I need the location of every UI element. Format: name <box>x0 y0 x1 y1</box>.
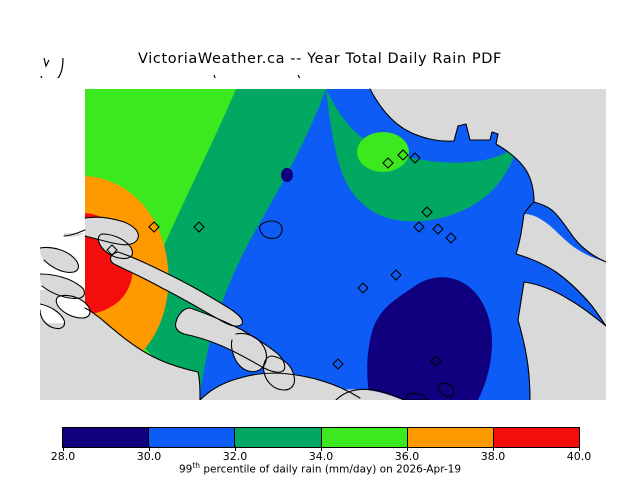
colorbar[interactable] <box>62 427 580 448</box>
contour-map <box>40 78 606 400</box>
colorbar-band-5 <box>493 428 579 447</box>
colorbar-band-4 <box>407 428 493 447</box>
page-title: VictoriaWeather.ca -- Year Total Daily R… <box>0 51 640 67</box>
colorbar-band-0 <box>63 428 148 447</box>
caption-rest: percentile of daily rain (mm/day) on 202… <box>200 464 461 476</box>
caption-percentile-number: 99 <box>179 464 192 476</box>
colorbar-caption: 99th percentile of daily rain (mm/day) o… <box>0 461 640 476</box>
map-canvas[interactable] <box>40 78 606 400</box>
colorbar-band-3 <box>321 428 407 447</box>
caption-ordinal-suffix: th <box>192 461 200 470</box>
screenshot-root: VictoriaWeather.ca -- Year Total Daily R… <box>0 0 640 480</box>
colorbar-band-1 <box>148 428 234 447</box>
colorbar-band-2 <box>234 428 320 447</box>
